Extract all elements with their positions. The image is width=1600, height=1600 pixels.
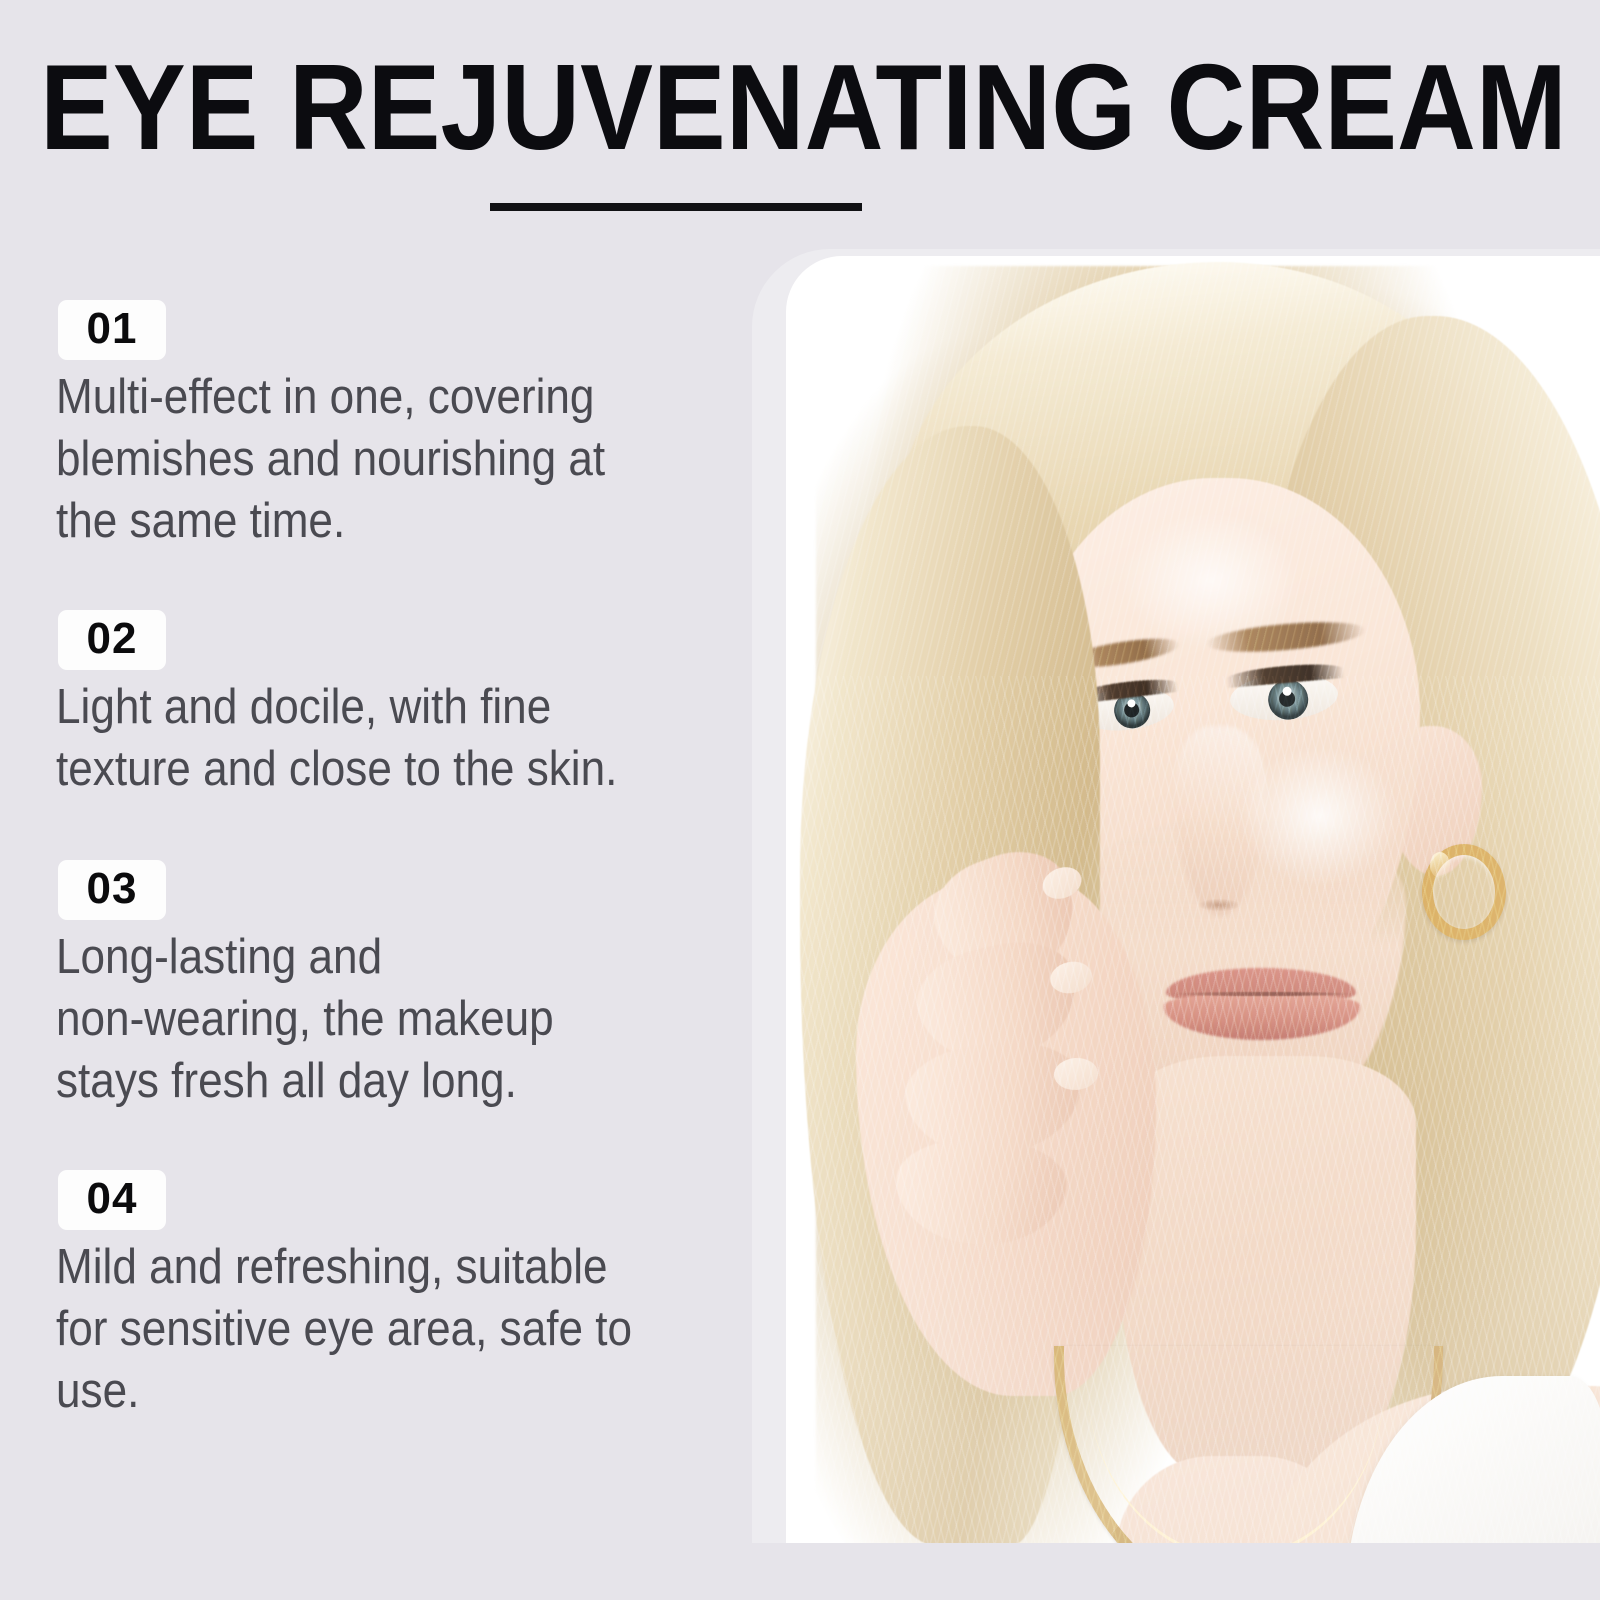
- model-photo: [786, 256, 1600, 1543]
- title-underline-rule: [490, 203, 862, 211]
- feature-list: 01 Multi-effect in one, covering blemish…: [0, 300, 740, 1422]
- feature-number-badge-04: 04: [58, 1170, 166, 1230]
- feature-item-04: 04 Mild and refreshing, suitable for sen…: [0, 1170, 740, 1422]
- feature-text-01: Multi-effect in one, covering blemishes …: [56, 366, 636, 552]
- feature-number-badge-02: 02: [58, 610, 166, 670]
- feature-number-badge-03: 03: [58, 860, 166, 920]
- feature-item-03: 03 Long-lasting and non-wearing, the mak…: [0, 860, 740, 1112]
- poster-root: EYE REJUVENATING CREAM 01 Multi-effect i…: [0, 0, 1600, 1600]
- feature-text-02: Light and docile, with fine texture and …: [56, 676, 636, 800]
- feature-number-badge-01: 01: [58, 300, 166, 360]
- photo-card: [786, 256, 1600, 1543]
- feature-item-01: 01 Multi-effect in one, covering blemish…: [0, 300, 740, 552]
- feature-item-02: 02 Light and docile, with fine texture a…: [0, 610, 740, 800]
- feature-text-03: Long-lasting and non-wearing, the makeup…: [56, 926, 636, 1112]
- feature-text-04: Mild and refreshing, suitable for sensit…: [56, 1236, 636, 1422]
- page-title: EYE REJUVENATING CREAM: [40, 48, 1400, 166]
- photo-soft-vignette: [786, 256, 1600, 1543]
